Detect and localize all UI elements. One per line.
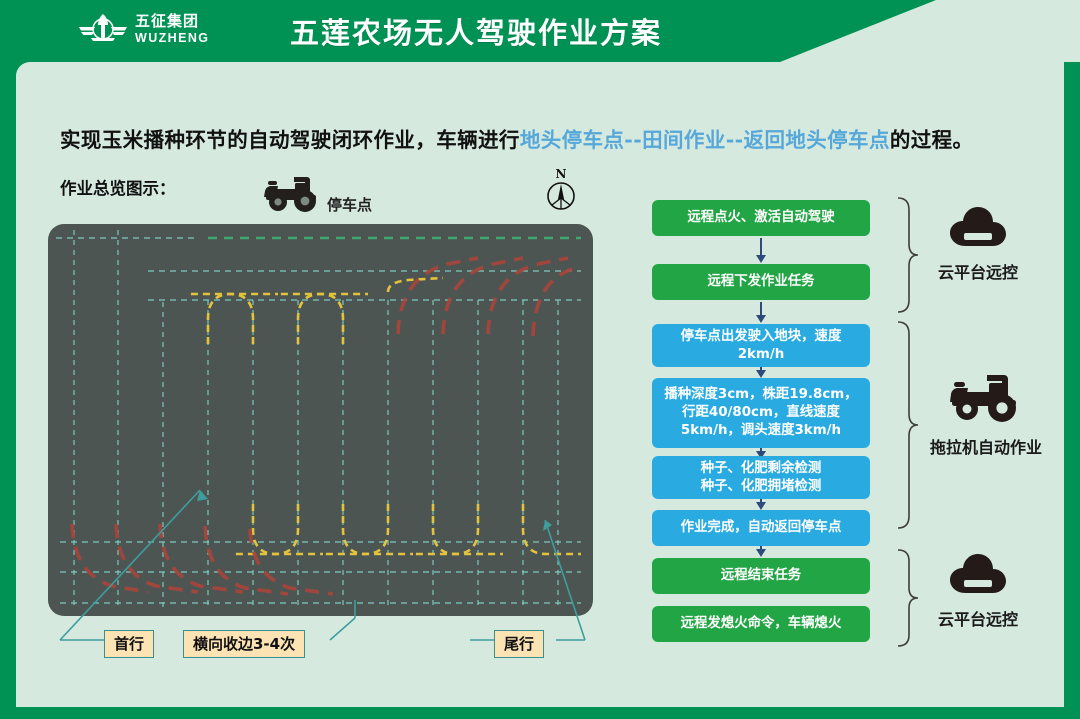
flow-step-remote-shutdown[interactable]: 远程发熄火命令，车辆熄火 <box>652 606 870 642</box>
intro-sentence: 实现玉米播种环节的自动驾驶闭环作业，车辆进行地头停车点--田间作业--返回地头停… <box>60 123 973 153</box>
cloud-icon <box>948 552 1008 601</box>
logo-wordmark: 五征集团 WUZHENG <box>135 14 209 45</box>
flow-step-seeding-parameters[interactable]: 播种深度3cm，株距19.8cm，行距40/80cm，直线速度5km/h，调头速… <box>652 378 870 448</box>
flow-step-depart-parking-enter-field[interactable]: 停车点出发驶入地块，速度2km/h <box>652 324 870 367</box>
brand-logo: 五征集团 WUZHENG <box>78 12 209 46</box>
first-row-tag: 首行 <box>104 630 154 658</box>
flow-arrow-5 <box>760 499 762 503</box>
tractor-icon <box>949 372 1023 429</box>
tractor-icon <box>264 173 322 218</box>
last-row-tag: 尾行 <box>494 630 544 658</box>
compass-rose-icon: N <box>546 168 576 211</box>
compass-needle-icon <box>546 181 576 211</box>
bottom-edge-strip <box>0 707 1080 719</box>
flow-step-task-complete-return[interactable]: 作业完成，自动返回停车点 <box>652 510 870 546</box>
legend-parking-point-label: 停车点 <box>327 194 372 218</box>
right-edge-strip <box>1064 62 1080 707</box>
overview-label: 作业总览图示： <box>60 175 176 199</box>
flow-step-remote-dispatch-task[interactable]: 远程下发作业任务 <box>652 264 870 300</box>
compass-north-label: N <box>556 168 567 180</box>
flow-arrow-3 <box>760 367 762 371</box>
bracket-tractor <box>894 320 920 530</box>
bracket-cloud-bottom <box>894 548 920 648</box>
page-title: 五莲农场无人驾驶作业方案 <box>290 10 662 52</box>
group-cloud-platform-remote-top: 云平台远控 <box>938 205 1018 283</box>
cloud-icon <box>948 205 1008 254</box>
group-label-cloud-bottom: 云平台远控 <box>938 606 1018 630</box>
left-edge-strip <box>0 62 16 719</box>
flow-step-seed-fertilizer-detection[interactable]: 种子、化肥剩余检测 种子、化肥拥堵检测 <box>652 456 870 499</box>
flow-arrow-2 <box>760 302 762 316</box>
flow-arrow-4 <box>760 448 762 452</box>
group-cloud-platform-remote-bottom: 云平台远控 <box>938 552 1018 630</box>
flow-arrow-1 <box>760 238 762 256</box>
logo-text-cn: 五征集团 <box>135 14 209 29</box>
slide-root: 五征集团 WUZHENG 五莲农场无人驾驶作业方案 实现玉米播种环节的自动驾驶闭… <box>0 0 1080 719</box>
flow-arrow-6 <box>760 546 762 550</box>
group-tractor-auto-operation: 拖拉机自动作业 <box>930 372 1042 458</box>
bracket-cloud-top <box>894 196 920 314</box>
intro-highlight: 地头停车点--田间作业--返回地头停车点 <box>520 128 890 152</box>
legend-parking-point: 停车点 <box>264 173 372 218</box>
logo-text-en: WUZHENG <box>135 32 209 45</box>
wuzheng-winged-emblem-icon <box>78 12 128 46</box>
flow-step-remote-ignition[interactable]: 远程点火、激活自动驾驶 <box>652 200 870 236</box>
lateral-edge-tag: 横向收边3-4次 <box>183 630 305 658</box>
field-operation-diagram <box>48 224 593 616</box>
intro-part2: 的过程。 <box>890 128 974 152</box>
group-label-cloud-top: 云平台远控 <box>938 259 1018 283</box>
intro-part1: 实现玉米播种环节的自动驾驶闭环作业，车辆进行 <box>60 128 520 152</box>
flow-step-remote-end-task[interactable]: 远程结束任务 <box>652 558 870 594</box>
group-label-tractor: 拖拉机自动作业 <box>930 434 1042 458</box>
